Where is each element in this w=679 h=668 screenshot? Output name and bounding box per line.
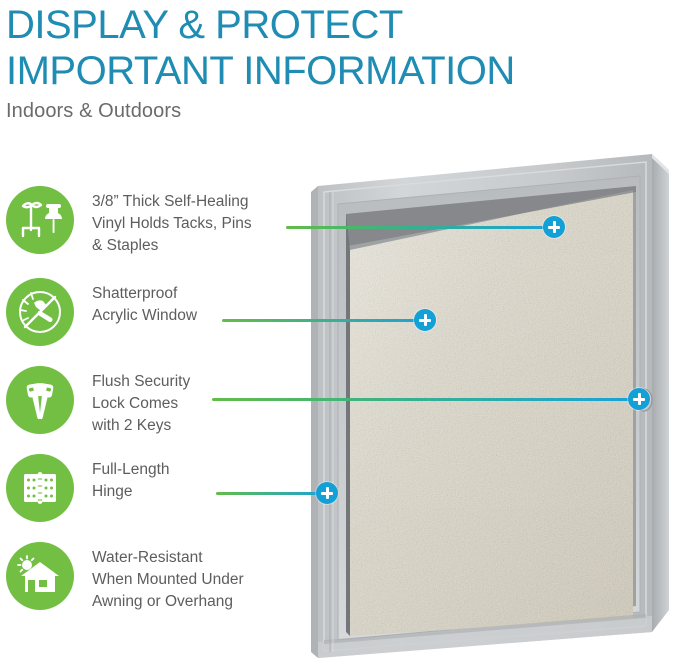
feature-label-acrylic: Shatterproof Acrylic Window xyxy=(92,278,197,327)
door-hinge-icon xyxy=(6,454,74,522)
headline-line-2: IMPORTANT INFORMATION xyxy=(6,48,626,94)
house-sun-icon xyxy=(6,542,74,610)
product-image xyxy=(300,140,679,668)
connector-line-acrylic xyxy=(222,319,426,322)
feature-label-lock: Flush Security Lock Comes with 2 Keys xyxy=(92,366,190,437)
tack-and-staple-icon xyxy=(6,186,74,254)
feature-item-lock[interactable]: Flush Security Lock Comes with 2 Keys xyxy=(6,366,190,437)
plus-marker-hinge[interactable] xyxy=(316,482,338,504)
connector-line-lock xyxy=(212,398,639,401)
two-keys-icon xyxy=(6,366,74,434)
headline-line-1: DISPLAY & PROTECT xyxy=(6,2,626,48)
infographic-page: DISPLAY & PROTECT IMPORTANT INFORMATION … xyxy=(0,0,679,668)
plus-marker-acrylic[interactable] xyxy=(414,309,436,331)
subtitle: Indoors & Outdoors xyxy=(6,98,626,124)
plus-marker-vinyl[interactable] xyxy=(543,216,565,238)
connector-line-vinyl xyxy=(286,226,558,229)
feature-item-vinyl[interactable]: 3/8” Thick Self-Healing Vinyl Holds Tack… xyxy=(6,186,252,257)
feature-label-hinge: Full-Length Hinge xyxy=(92,454,170,503)
feature-label-vinyl: 3/8” Thick Self-Healing Vinyl Holds Tack… xyxy=(92,186,252,257)
feature-label-water-resistant: Water-Resistant When Mounted Under Awnin… xyxy=(92,542,244,613)
feature-item-hinge[interactable]: Full-Length Hinge xyxy=(6,454,170,522)
connector-line-hinge xyxy=(216,492,328,495)
feature-item-acrylic[interactable]: Shatterproof Acrylic Window xyxy=(6,278,197,346)
header: DISPLAY & PROTECT IMPORTANT INFORMATION … xyxy=(6,0,626,124)
feature-item-water-resistant[interactable]: Water-Resistant When Mounted Under Awnin… xyxy=(6,542,244,613)
no-hammer-icon xyxy=(6,278,74,346)
plus-marker-lock[interactable] xyxy=(628,388,650,410)
